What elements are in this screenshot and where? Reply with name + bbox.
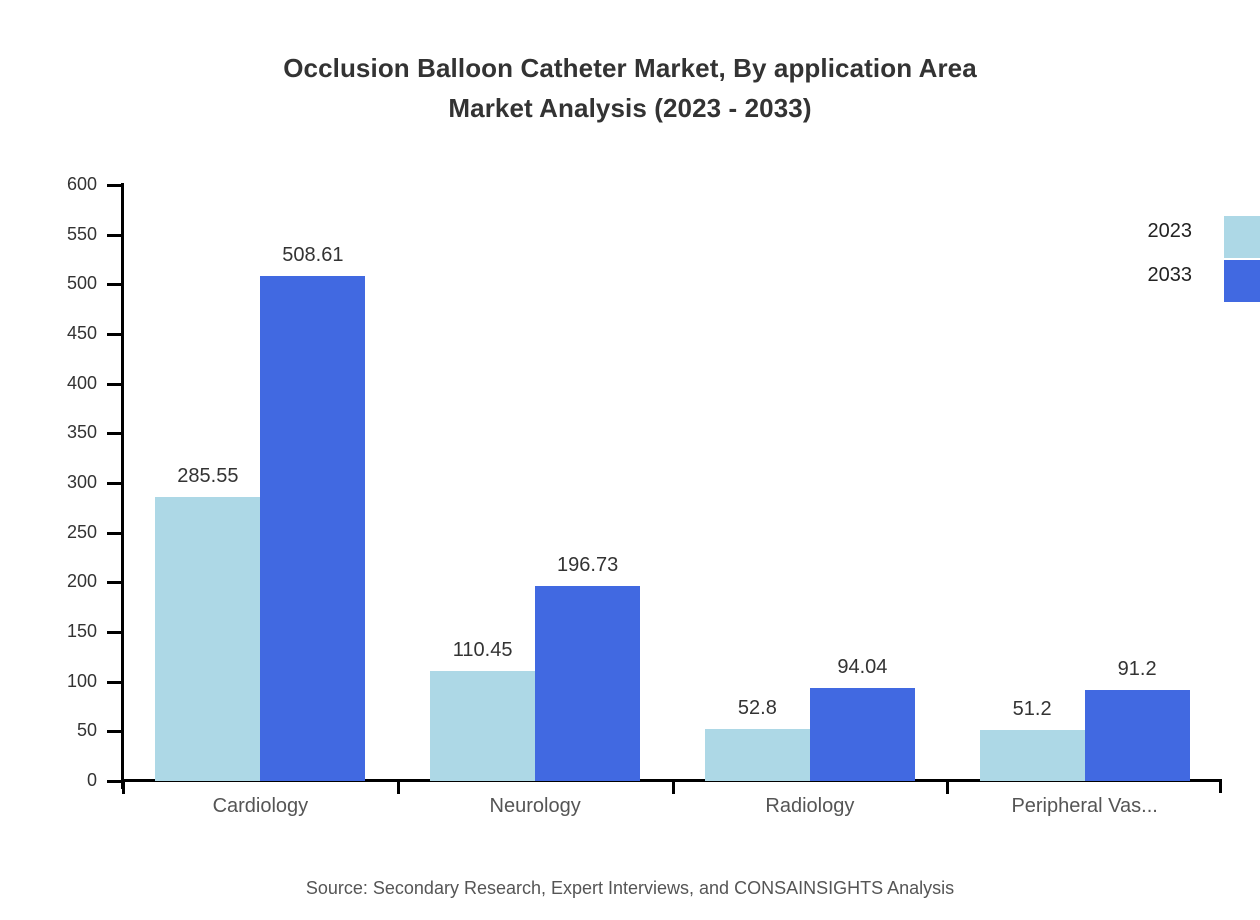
x-axis-tick [672,780,675,794]
legend-label: 2023 [1148,216,1193,246]
bar-value-label: 91.2 [1057,658,1217,681]
x-axis-tick [122,780,125,794]
chart-title: Occlusion Balloon Catheter Market, By ap… [0,48,1260,128]
source-note: Source: Secondary Research, Expert Inter… [0,878,1260,899]
x-axis-category-label: Cardiology [130,795,390,818]
bar[interactable] [535,586,640,781]
y-axis-tick-label: 250 [37,522,97,543]
legend-item[interactable]: 2033 [1120,260,1260,302]
y-axis-tick-label: 500 [37,273,97,294]
y-axis-tick-label: 100 [37,671,97,692]
y-axis-tick [107,780,123,783]
bar[interactable] [430,671,535,781]
x-axis-tick [397,780,400,794]
y-axis-tick-label: 200 [37,571,97,592]
y-axis-tick [107,482,123,485]
bar[interactable] [1085,690,1190,781]
bar[interactable] [260,276,365,781]
chart-title-line-1: Occlusion Balloon Catheter Market, By ap… [283,53,977,83]
y-axis-tick-label: 600 [37,174,97,195]
bar-value-label: 196.73 [508,554,668,577]
x-axis-end-tick [1219,779,1222,793]
legend-label: 2033 [1148,260,1193,290]
y-axis-tick-label: 400 [37,373,97,394]
x-axis-category-label: Radiology [680,795,940,818]
bar[interactable] [705,729,810,781]
y-axis-tick-label: 0 [37,770,97,791]
y-axis-tick [107,730,123,733]
bar-chart: Occlusion Balloon Catheter Market, By ap… [0,0,1260,920]
y-axis-tick [107,532,123,535]
y-axis-tick-label: 550 [37,224,97,245]
legend-color-swatch [1224,216,1260,258]
y-axis-tick [107,432,123,435]
bar[interactable] [980,730,1085,781]
y-axis-tick [107,383,123,386]
chart-title-line-2: Market Analysis (2023 - 2033) [0,88,1260,128]
legend-item[interactable]: 2023 [1120,216,1260,258]
plot-area: 285.55508.61110.45196.7352.894.0451.291.… [123,185,1222,781]
y-axis-tick [107,234,123,237]
y-axis-tick-label: 300 [37,472,97,493]
y-axis-tick [107,333,123,336]
bar-value-label: 94.04 [782,656,942,679]
x-axis-category-label: Neurology [405,795,665,818]
y-axis-tick [107,681,123,684]
bar[interactable] [155,497,260,781]
y-axis-tick [107,581,123,584]
y-axis-tick-label: 350 [37,422,97,443]
legend-color-swatch [1224,260,1260,302]
y-axis-tick-label: 450 [37,323,97,344]
x-axis-tick [946,780,949,794]
x-axis-category-label: Peripheral Vas... [955,795,1215,818]
y-axis-tick [107,283,123,286]
y-axis-tick [107,631,123,634]
bar-value-label: 508.61 [233,244,393,267]
y-axis-tick [107,184,123,187]
y-axis-tick-label: 150 [37,621,97,642]
chart-legend: 20232033 [1120,216,1260,306]
y-axis-tick-label: 50 [37,720,97,741]
bar[interactable] [810,688,915,781]
